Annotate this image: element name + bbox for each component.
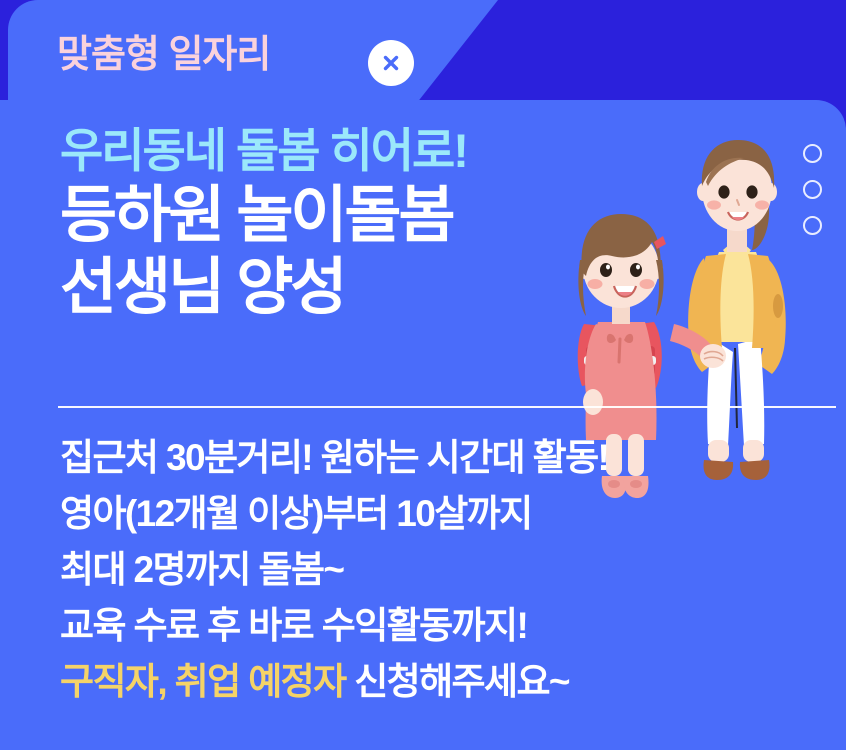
headline-line-2: 등하원 놀이돌봄	[60, 180, 467, 252]
close-icon	[380, 52, 402, 74]
body-line-2: 영아(12개월 이상)부터 10살까지	[60, 486, 608, 542]
slide-dot-2[interactable]	[803, 180, 822, 199]
tab-title: 맞춤형 일자리	[57, 30, 270, 80]
slide-dot-1[interactable]	[803, 144, 822, 163]
slide-dot-3[interactable]	[803, 216, 822, 235]
body-line-3: 최대 2명까지 돌봄~	[60, 542, 608, 598]
slide-indicator	[803, 144, 822, 235]
divider	[58, 406, 836, 408]
promo-card: 우리동네 돌봄 히어로! 등하원 놀이돌봄 선생님 양성 집근처 30분거리! …	[0, 100, 846, 750]
close-button[interactable]	[368, 40, 414, 86]
body-line-1: 집근처 30분거리! 원하는 시간대 활동!	[60, 430, 608, 486]
body-line-5-highlight: 구직자, 취업 예정자	[60, 661, 346, 702]
headline-block: 우리동네 돌봄 히어로! 등하원 놀이돌봄 선생님 양성	[60, 122, 467, 324]
body-line-5-rest: 신청해주세요~	[346, 661, 569, 702]
promo-banner: 맞춤형 일자리	[0, 0, 846, 750]
headline-line-1: 우리동네 돌봄 히어로!	[60, 122, 467, 180]
headline-line-3: 선생님 양성	[60, 252, 467, 324]
body-line-4: 교육 수료 후 바로 수익활동까지!	[60, 598, 608, 654]
body-text-block: 집근처 30분거리! 원하는 시간대 활동! 영아(12개월 이상)부터 10살…	[60, 430, 608, 710]
body-line-5: 구직자, 취업 예정자 신청해주세요~	[60, 654, 608, 710]
